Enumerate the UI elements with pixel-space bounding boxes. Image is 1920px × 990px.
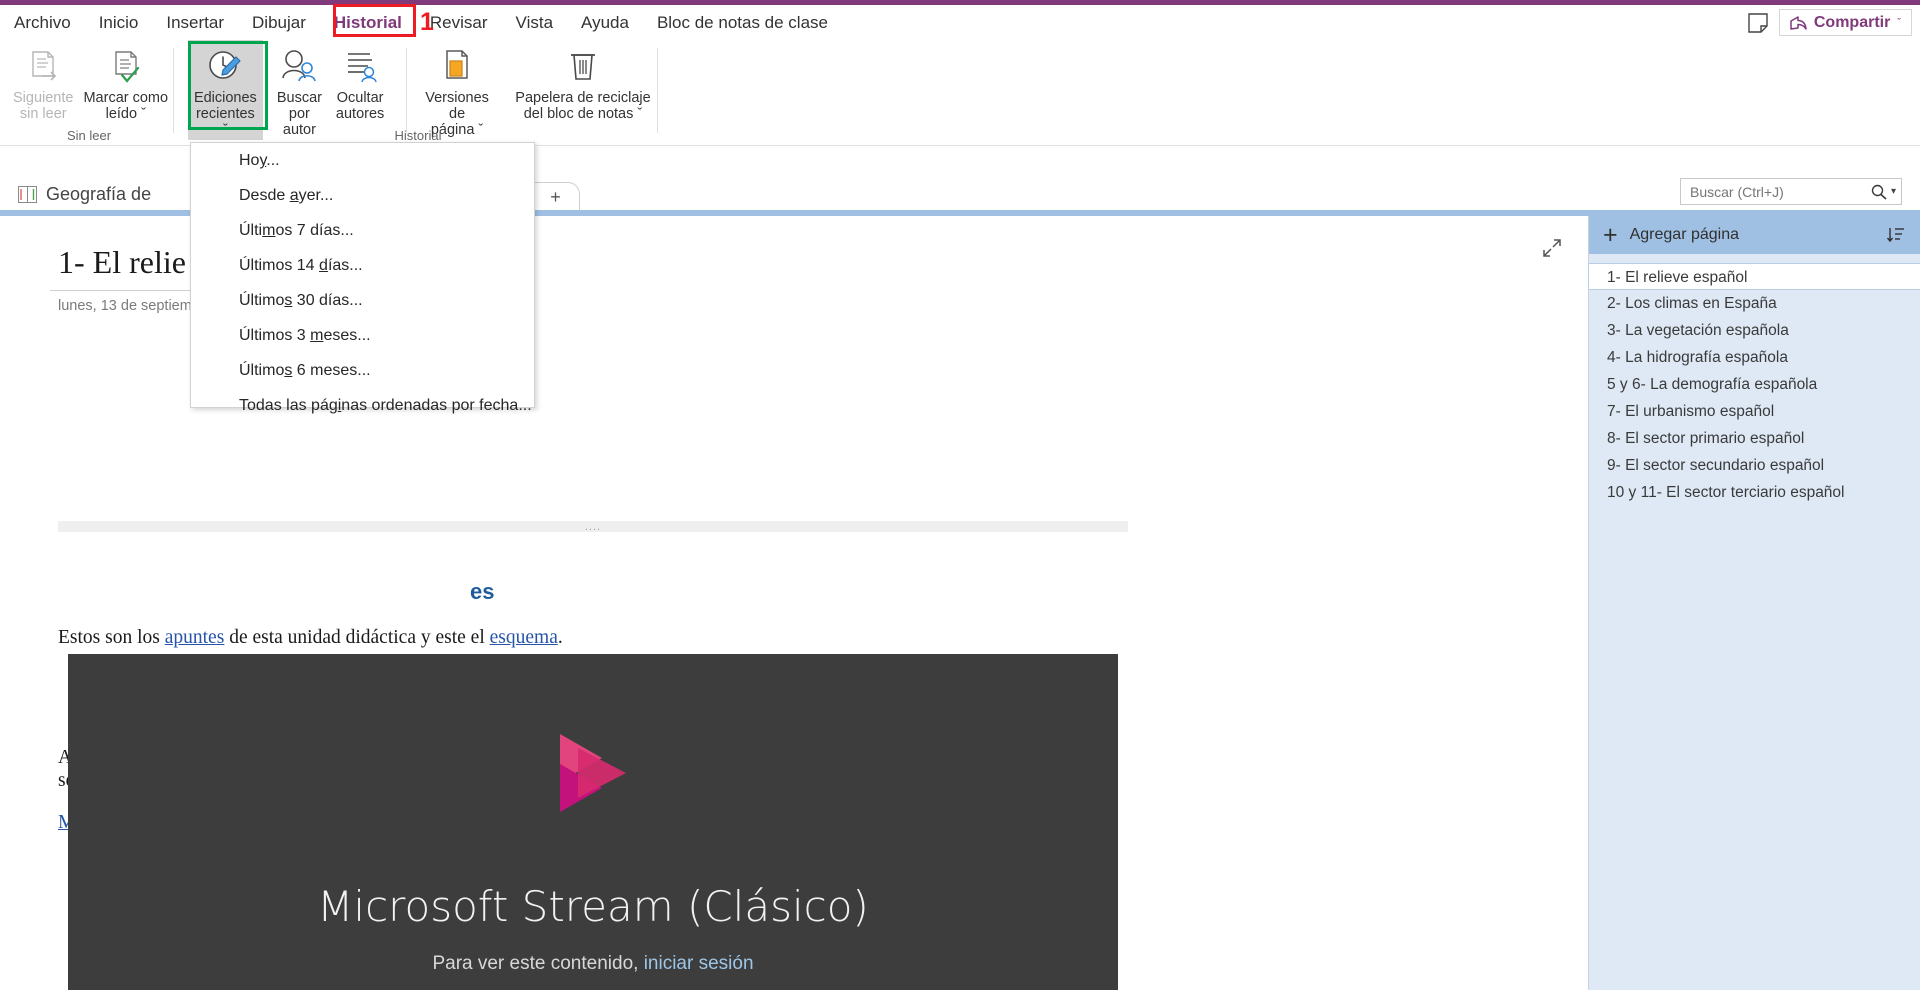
page-list-pane: + Agregar página 1- El relieve español 2… [1588,216,1920,990]
add-page-button[interactable]: + Agregar página [1589,216,1920,254]
menu-item-ultimos-6-meses[interactable]: Últimos 6 meses... [191,353,534,388]
intro-mid: de esta unidad didáctica y este el [224,627,489,648]
page-date[interactable]: lunes, 13 de septiem [58,298,192,314]
group-divider-2 [657,48,658,133]
ribbon-group-label-historial: Historial [178,128,658,143]
tab-archivo[interactable]: Archivo [0,5,85,40]
siguiente-sin-leer-label: Siguiente sin leer [13,90,73,122]
page-list-item-5[interactable]: 5 y 6- La demografía española [1589,371,1920,398]
add-page-label: Agregar página [1630,226,1739,244]
ribbon-group-sin-leer: Siguiente sin leer Marcar como leído ˇ S [4,40,174,146]
buscar-por-autor-button[interactable]: Buscar por autor [267,40,332,140]
recycle-bin-icon [566,46,600,88]
callout-marker-1: 1 [420,8,434,37]
page-list-item-1[interactable]: 1- El relieve español [1588,263,1920,290]
share-button-label: Compartir [1814,14,1890,32]
page-list-item-3[interactable]: 3- La vegetación española [1589,317,1920,344]
share-icon [1790,15,1807,31]
search-box[interactable]: ▾ [1680,178,1902,205]
menu-item-ultimos-7-dias[interactable]: Últimos 7 días... [191,213,534,248]
menu-item-todas-las-paginas[interactable]: Todas las páginas ordenadas por fecha... [191,388,534,423]
ribbon-group-historial: Ediciones recientes ˇ Buscar por autor [178,40,658,146]
plus-icon: + [1603,225,1618,245]
intro-suffix: . [558,627,563,648]
siguiente-sin-leer-button[interactable]: Siguiente sin leer [8,40,78,124]
esquema-link[interactable]: esquema [490,627,558,648]
expand-arrows-icon[interactable] [1542,238,1562,258]
tab-inicio[interactable]: Inicio [85,5,153,40]
intro-prefix: Estos son los [58,627,165,648]
menu-item-desde-ayer[interactable]: Desde ayer... [191,178,534,213]
tab-historial[interactable]: Historial [320,5,416,40]
group-inner-divider [406,48,407,133]
tab-insertar[interactable]: Insertar [152,5,238,40]
mark-as-read-icon [109,46,143,88]
recent-edits-clock-pencil-icon [206,46,244,88]
find-by-author-icon [279,46,319,88]
notebook-icon [18,186,37,203]
versiones-de-pagina-button[interactable]: Versiones de página ˇ [412,40,502,140]
tab-bloc-de-notas-de-clase[interactable]: Bloc de notas de clase [643,5,842,40]
ribbon-tab-strip: Archivo Inicio Insertar Dibujar Historia… [0,5,1920,40]
apuntes-link[interactable]: apuntes [165,627,225,648]
intro-paragraph[interactable]: Estos son los apuntes de esta unidad did… [58,626,563,649]
next-unread-icon [26,46,60,88]
page-list-item-9[interactable]: 10 y 11- El sector terciario español [1589,479,1920,506]
stream-signin-link[interactable]: iniciar sesión [644,953,754,974]
notebook-name[interactable]: Geografía de [0,184,165,210]
notebook-name-label: Geografía de [46,184,151,205]
add-section-button[interactable]: + [531,182,580,210]
page-list-item-8[interactable]: 9- El sector secundario español [1589,452,1920,479]
sort-icon[interactable] [1886,225,1906,245]
share-button[interactable]: Compartir ˇ [1779,9,1912,36]
page-list-item-7[interactable]: 8- El sector primario español [1589,425,1920,452]
marcar-como-leido-button[interactable]: Marcar como leído ˇ [78,40,173,124]
ribbon: Siguiente sin leer Marcar como leído ˇ S [0,40,1920,146]
resize-handle-dots: .... [585,525,601,529]
marcar-como-leido-label: Marcar como leído ˇ [83,90,168,122]
ribbon-group-label-sin-leer: Sin leer [4,128,174,143]
menu-item-ultimos-14-dias[interactable]: Últimos 14 días... [191,248,534,283]
content-resize-handle[interactable]: .... [58,521,1128,532]
page-versions-icon [438,46,476,88]
ediciones-recientes-button[interactable]: Ediciones recientes ˇ [188,40,263,140]
stream-embed-subtitle: Para ver este contenido, iniciar sesión [432,953,753,975]
page-list-item-2[interactable]: 2- Los climas en España [1589,290,1920,317]
stream-subtitle-prefix: Para ver este contenido, [432,953,643,974]
ediciones-recientes-menu[interactable]: Hoy... Desde ayer... Últimos 7 días... Ú… [190,142,535,408]
stream-embed-title: Microsoft Stream (Clásico) [317,882,869,931]
stream-video-embed[interactable]: Microsoft Stream (Clásico) Para ver este… [68,654,1118,990]
section-heading-partial: es [470,579,494,605]
group-divider [173,48,174,133]
tab-ayuda[interactable]: Ayuda [567,5,643,40]
menu-item-ultimos-3-meses[interactable]: Últimos 3 meses... [191,318,534,353]
tab-vista[interactable]: Vista [502,5,568,40]
search-input[interactable] [1690,184,1871,200]
ocultar-autores-label: Ocultar autores [336,90,384,122]
search-chevron-down-icon[interactable]: ▾ [1891,186,1896,197]
tab-strip-right-actions: Compartir ˇ [1747,5,1912,40]
tab-dibujar[interactable]: Dibujar [238,5,320,40]
page-list-item-4[interactable]: 4- La hidrografía española [1589,344,1920,371]
microsoft-stream-play-logo [554,732,632,814]
ocultar-autores-button[interactable]: Ocultar autores [332,40,388,124]
share-chevron-down-icon[interactable]: ˇ [1897,17,1901,29]
onenote-window: Archivo Inicio Insertar Dibujar Historia… [0,0,1920,990]
sticky-note-icon[interactable] [1747,12,1769,34]
page-title[interactable]: 1- El relie [58,244,186,281]
papelera-de-reciclaje-button[interactable]: Papelera de reciclaje del bloc de notas … [508,40,658,124]
hide-authors-icon [340,46,380,88]
page-list-item-6[interactable]: 7- El urbanismo español [1589,398,1920,425]
page-list-gap [1589,254,1920,263]
menu-item-hoy[interactable]: Hoy... [191,143,534,178]
menu-item-ultimos-30-dias[interactable]: Últimos 30 días... [191,283,534,318]
papelera-de-reciclaje-label: Papelera de reciclaje del bloc de notas … [515,90,650,122]
search-icon[interactable] [1871,184,1887,200]
